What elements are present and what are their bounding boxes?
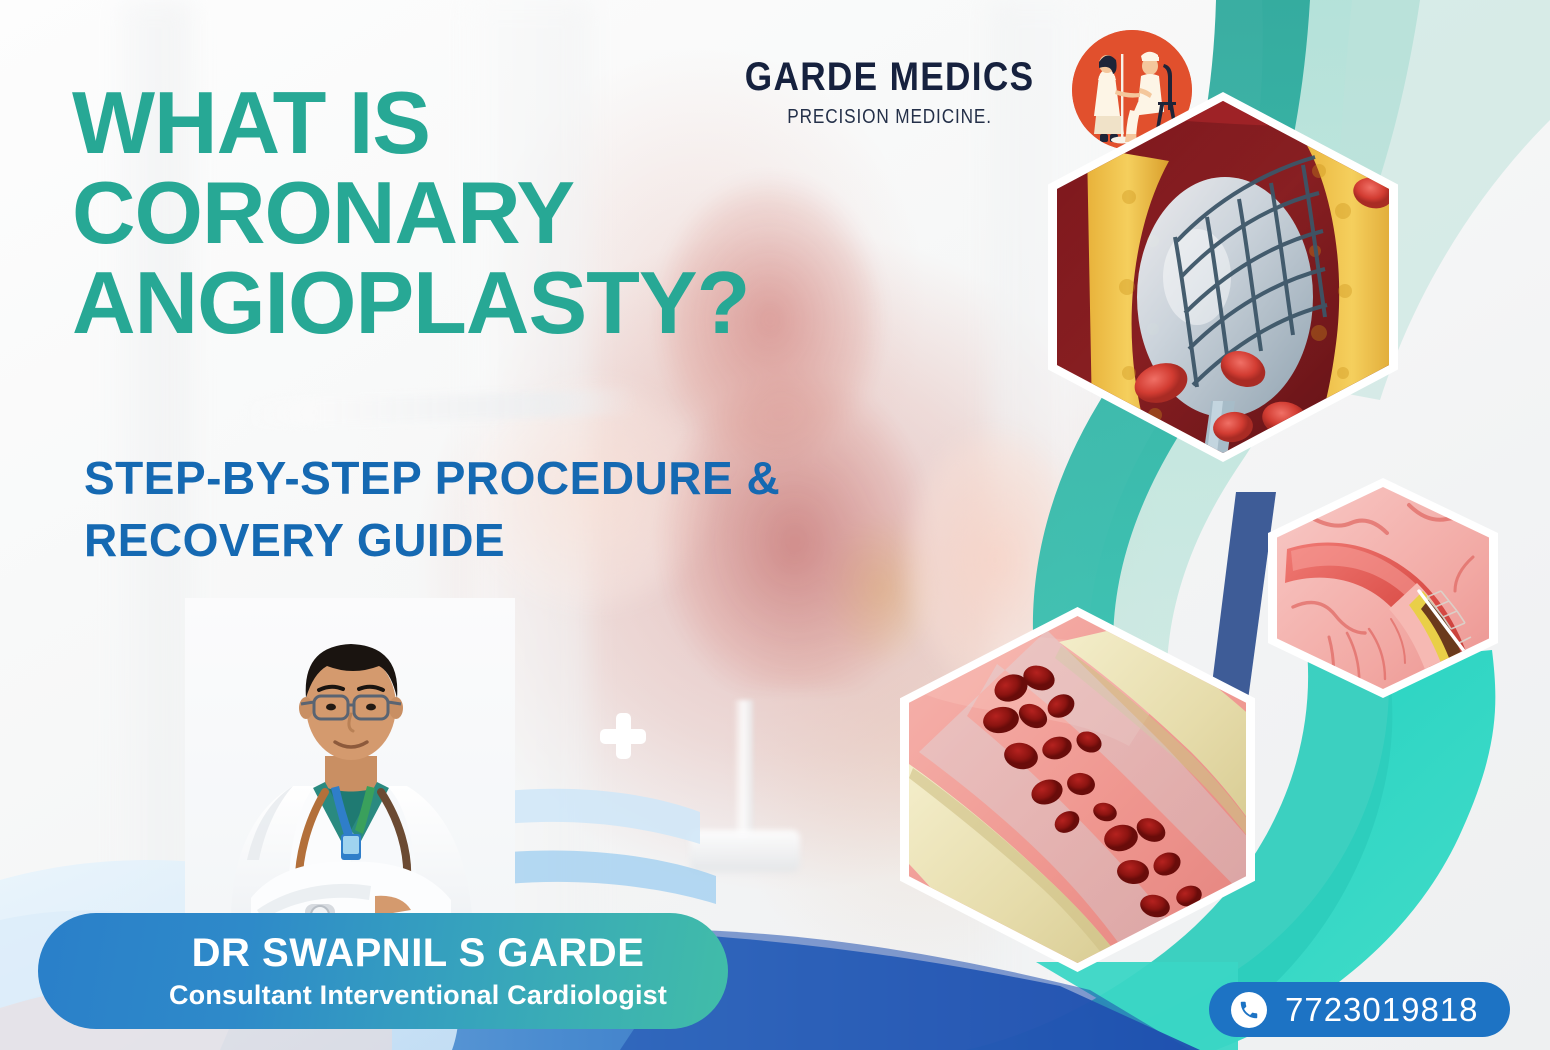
subheadline-line-2: RECOVERY GUIDE — [84, 509, 984, 571]
headline: WHAT IS CORONARY ANGIOPLASTY? — [72, 78, 992, 347]
coronary-artery-stent-illustration — [1277, 487, 1489, 689]
doctor-role: Consultant Interventional Cardiologist — [169, 980, 667, 1011]
subheadline: STEP-BY-STEP PROCEDURE & RECOVERY GUIDE — [84, 447, 984, 571]
stent-balloon-angioplasty-illustration — [1057, 101, 1389, 453]
phone-number: 7723019818 — [1285, 991, 1479, 1029]
phone-contact-badge[interactable]: 7723019818 — [1209, 982, 1510, 1037]
doctor-name-banner: DR SWAPNIL S GARDE Consultant Interventi… — [38, 913, 728, 1029]
narrowed-artery-plaque-illustration — [909, 616, 1246, 963]
poster-canvas: GARDE MEDICS PRECISION MEDICINE. — [0, 0, 1550, 1050]
medical-cross-icon — [600, 713, 646, 759]
subheadline-line-1: STEP-BY-STEP PROCEDURE & — [84, 447, 984, 509]
headline-line-2: CORONARY — [72, 168, 992, 258]
headline-line-1: WHAT IS — [72, 78, 992, 168]
phone-icon — [1231, 992, 1267, 1028]
doctor-name: DR SWAPNIL S GARDE — [192, 931, 645, 976]
headline-line-3: ANGIOPLASTY? — [72, 258, 992, 348]
doctor-portrait-photo — [185, 598, 515, 933]
